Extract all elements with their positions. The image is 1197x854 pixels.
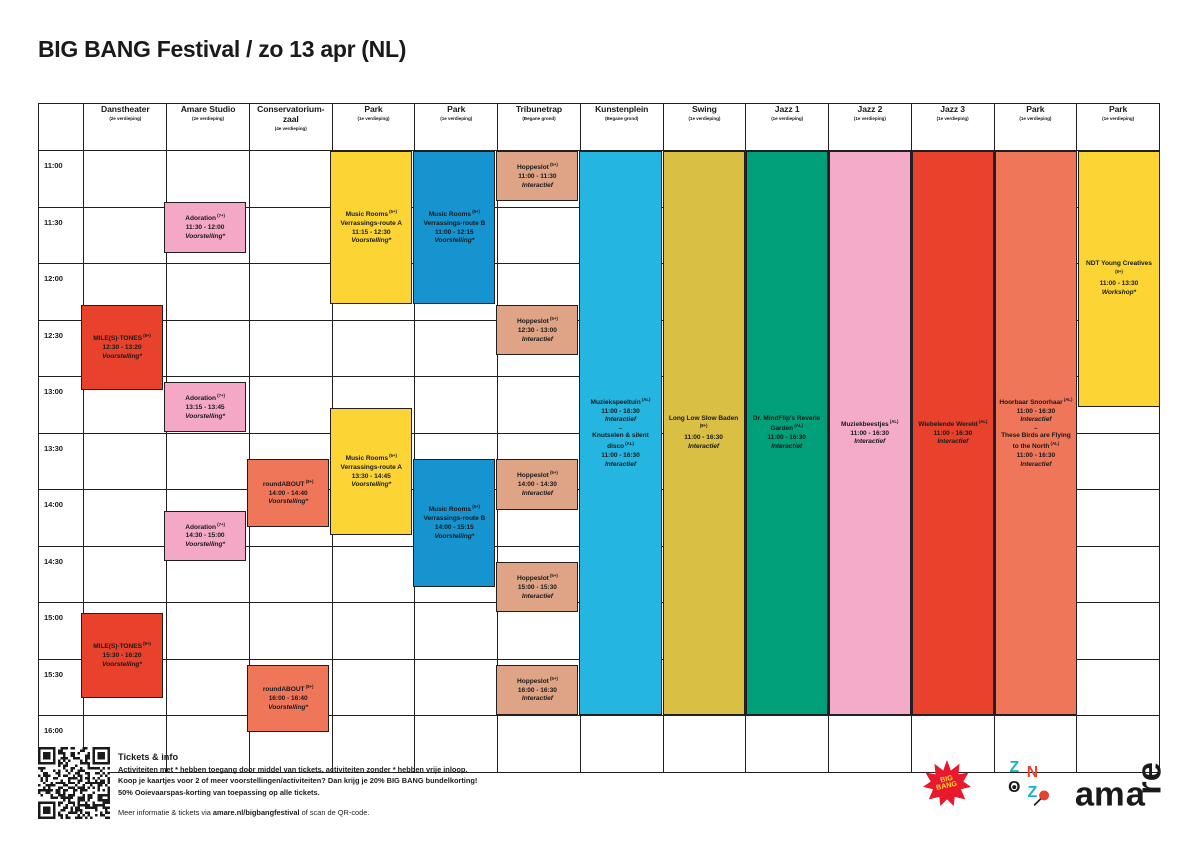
- event-kind: Voorstelling*: [185, 541, 225, 550]
- venue-floor: (1e verdieping): [333, 116, 415, 122]
- event-title: Hoppeslot (5+): [517, 162, 558, 173]
- big-bang-star-icon: BIG BANG: [923, 759, 971, 807]
- venue-floor: (2e verdieping): [167, 116, 249, 122]
- slot-cell: [167, 151, 250, 208]
- event-kind: Interactief: [522, 593, 553, 602]
- event-title: These Birds are Flying to the North (AL): [999, 432, 1073, 452]
- event-subtitle: Verrassings-route B: [423, 515, 485, 524]
- event-time: 12:30 - 13:00: [518, 327, 557, 336]
- event-time: 11:00 - 11:30: [518, 173, 556, 182]
- event-block-music-rooms-a-1[interactable]: Music Rooms (5+)Verrassings-route A11:15…: [330, 151, 412, 304]
- event-age-rating: (5+): [549, 316, 558, 321]
- slot-cell: [332, 320, 415, 377]
- time-cell-1200: 12:00: [39, 264, 84, 321]
- venue-name: Danstheater: [84, 104, 166, 114]
- slot-cell: [1077, 433, 1160, 490]
- event-block-miles-tones-1[interactable]: MILE(S)-TONES (8+)12:30 - 13:20Voorstell…: [81, 305, 163, 390]
- event-time-2: 11:00 - 16:30: [1017, 452, 1056, 461]
- event-kind: Interactief: [771, 443, 802, 452]
- big-bang-logo: BIG BANG: [923, 759, 971, 807]
- zonzo-logo: Z N O Z: [1001, 755, 1059, 811]
- event-title: NDT Young Creatives (8+): [1082, 260, 1156, 280]
- event-age-rating: (AL): [793, 423, 803, 428]
- tickets-heading: Tickets & info: [118, 752, 678, 762]
- event-block-long-low-slow-baden[interactable]: Long Low Slow Baden (8+)11:00 - 16:30Int…: [663, 151, 745, 715]
- event-block-ndt-young-creatives[interactable]: NDT Young Creatives (8+)11:00 - 13:30Wor…: [1078, 151, 1160, 407]
- venue-name: Conservatorium-zaal: [250, 104, 332, 124]
- event-kind-2: Interactief: [1020, 461, 1051, 470]
- event-age-rating: (5+): [388, 453, 397, 458]
- svg-text:re: re: [1130, 762, 1168, 795]
- event-kind: Workshop*: [1102, 289, 1136, 298]
- event-block-music-rooms-b-1[interactable]: Music Rooms (5+)Verrassings-route B11:00…: [413, 151, 495, 304]
- event-kind: Voorstelling*: [102, 661, 142, 670]
- event-subtitle: Verrassings-route B: [423, 220, 485, 229]
- time-label: 13:00: [44, 387, 63, 396]
- schedule-grid: Danstheater(2e verdieping)Amare Studio(2…: [38, 103, 1160, 715]
- event-block-roundabout-1[interactable]: roundABOUT (8+)14:00 - 14:40Voorstelling…: [247, 459, 329, 526]
- event-age-rating: (8+): [142, 641, 151, 646]
- venue-name: Swing: [664, 104, 746, 114]
- event-block-hoppeslot-1[interactable]: Hoppeslot (5+)11:00 - 11:30Interactief: [496, 151, 578, 201]
- event-age-rating: (AL): [1063, 397, 1073, 402]
- event-time: 14:00 - 15:15: [435, 524, 474, 533]
- event-block-roundabout-2[interactable]: roundABOUT (8+)16:00 - 16:40Voorstelling…: [247, 665, 329, 732]
- event-title: Long Low Slow Baden (8+): [667, 415, 741, 435]
- event-block-music-rooms-a-2[interactable]: Music Rooms (5+)Verrassings-route A13:30…: [330, 408, 412, 535]
- venue-name: Amare Studio: [167, 104, 249, 114]
- event-title: Hoppeslot (5+): [517, 573, 558, 584]
- svg-text:am: am: [1075, 776, 1125, 814]
- event-block-miles-tones-2[interactable]: MILE(S)-TONES (8+)15:30 - 16:20Voorstell…: [81, 613, 163, 698]
- event-title: Music Rooms (5+): [346, 453, 397, 464]
- event-age-rating: (AL): [978, 419, 988, 424]
- event-time: 11:15 - 12:30: [352, 229, 391, 238]
- venue-floor: (1e verdieping): [995, 116, 1077, 122]
- slot-cell: [249, 264, 332, 321]
- event-age-rating: (5+): [471, 504, 480, 509]
- venue-floor: (4e verdieping): [250, 126, 332, 132]
- tickets-line-4: Meer informatie & tickets via amare.nl/b…: [118, 807, 678, 818]
- time-label: 15:30: [44, 670, 63, 679]
- svg-text:Z: Z: [1028, 784, 1038, 801]
- event-age-rating: (7+): [216, 522, 225, 527]
- time-label: 16:00: [44, 726, 63, 735]
- event-age-rating: (8+): [700, 423, 708, 428]
- tickets-info: Tickets & info Activiteiten met * hebben…: [118, 752, 678, 818]
- time-label: 11:30: [44, 218, 63, 227]
- event-title: Hoppeslot (5+): [517, 316, 558, 327]
- slot-cell: [415, 320, 498, 377]
- event-age-rating: (5+): [388, 209, 397, 214]
- time-cell-1500: 15:00: [39, 603, 84, 660]
- slot-cell: [415, 659, 498, 716]
- slot-cell: [167, 659, 250, 716]
- time-cell-1530: 15:30: [39, 659, 84, 716]
- footer-spacer: [118, 798, 678, 807]
- venue-floor: (2e verdieping): [84, 116, 166, 122]
- event-age-rating: (AL): [624, 441, 634, 446]
- event-title: Adoration (7+): [185, 213, 225, 224]
- time-label: 12:00: [44, 274, 63, 283]
- amare-logo: am a re: [1073, 749, 1173, 815]
- event-kind: Voorstelling*: [185, 233, 225, 242]
- event-block-muziekbeestjes[interactable]: Muziekbeestjes (AL)11:00 - 16:30Interact…: [829, 151, 911, 715]
- event-age-rating: (8+): [305, 684, 314, 689]
- event-time: 16:00 - 16:40: [269, 695, 308, 704]
- venue-header-12: Park(1e verdieping): [1077, 104, 1160, 151]
- slot-cell: [498, 207, 581, 264]
- event-kind: Interactief: [522, 490, 553, 499]
- venue-header-5: Tribunetrap(Begane grond): [498, 104, 581, 151]
- time-label: 15:00: [44, 613, 63, 622]
- venue-header-0: Danstheater(2e verdieping): [84, 104, 167, 151]
- venue-header-1: Amare Studio(2e verdieping): [167, 104, 250, 151]
- event-title: Hoppeslot (5+): [517, 676, 558, 687]
- slot-cell: [249, 207, 332, 264]
- qr-code-icon: [38, 747, 110, 819]
- event-time: 14:30 - 15:00: [186, 532, 225, 541]
- qr-code[interactable]: [38, 747, 110, 819]
- svg-text:Z: Z: [1009, 759, 1019, 776]
- venue-floor: (1e verdieping): [746, 116, 828, 122]
- event-kind: Interactief: [605, 416, 636, 425]
- time-cell-1230: 12:30: [39, 320, 84, 377]
- venue-name: Jazz 1: [746, 104, 828, 114]
- tickets-line-2-text: Koop je kaartjes voor 2 of meer voorstel…: [118, 776, 370, 785]
- event-kind: Interactief: [522, 182, 553, 191]
- event-age-rating: (7+): [216, 213, 225, 218]
- slot-cell: [249, 151, 332, 208]
- slot-cell: [332, 546, 415, 603]
- event-age-rating: (AL): [1049, 441, 1059, 446]
- time-cell-1300: 13:00: [39, 377, 84, 434]
- venue-name: Park: [415, 104, 497, 114]
- event-title: MILE(S)-TONES (8+): [93, 333, 151, 344]
- time-label: 14:00: [44, 500, 63, 509]
- event-block-hoorbaar-snoorhaar[interactable]: Hoorbaar Snoorhaar (AL)11:00 - 16:30Inte…: [995, 151, 1077, 715]
- event-age-rating: (8+): [305, 479, 314, 484]
- event-block-hoppeslot-3[interactable]: Hoppeslot (5+)14:00 - 14:30Interactief: [496, 459, 578, 509]
- event-time: 11:30 - 12:00: [186, 224, 225, 233]
- slot-cell: [167, 603, 250, 660]
- event-block-hoppeslot-5[interactable]: Hoppeslot (5+)16:00 - 16:30Interactief: [496, 665, 578, 715]
- event-block-music-rooms-b-2[interactable]: Music Rooms (5+)Verrassings-route B14:00…: [413, 459, 495, 586]
- venue-floor: (Begane grond): [581, 116, 663, 122]
- time-cell-1130: 11:30: [39, 207, 84, 264]
- event-separator: –: [619, 425, 623, 432]
- slot-cell: [1077, 546, 1160, 603]
- event-time: 15:00 - 15:30: [518, 584, 557, 593]
- svg-text:N: N: [1027, 764, 1038, 781]
- event-time: 11:00 - 16:30: [601, 408, 640, 417]
- slot-cell: [1077, 490, 1160, 547]
- venue-floor: (1e verdieping): [664, 116, 746, 122]
- venue-header-3: Park(1e verdieping): [332, 104, 415, 151]
- event-age-rating: (5+): [549, 676, 558, 681]
- slot-cell: [332, 603, 415, 660]
- event-block-hoppeslot-4[interactable]: Hoppeslot (5+)15:00 - 15:30Interactief: [496, 562, 578, 612]
- venue-floor: (1e verdieping): [1077, 116, 1159, 122]
- event-title: Music Rooms (5+): [346, 209, 397, 220]
- time-cell-1400: 14:00: [39, 490, 84, 547]
- event-age-rating: (AL): [641, 397, 651, 402]
- event-kind: Interactief: [688, 443, 719, 452]
- time-cell-1430: 14:30: [39, 546, 84, 603]
- venue-header-7: Swing(1e verdieping): [663, 104, 746, 151]
- time-label: 14:30: [44, 557, 63, 566]
- more-info-text: Meer informatie & tickets via: [118, 808, 213, 817]
- event-block-adoration-3[interactable]: Adoration (7+)14:30 - 15:00Voorstelling*: [164, 511, 246, 561]
- event-time: 11:00 - 16:30: [767, 434, 806, 443]
- event-title: Knutselen & silent disco (AL): [583, 432, 657, 452]
- slot-cell: [84, 207, 167, 264]
- event-time: 15:30 - 16:20: [103, 652, 142, 661]
- venue-name: Tribunetrap: [498, 104, 580, 114]
- event-time: 11:00 - 16:30: [684, 434, 723, 443]
- slot-cell: [84, 490, 167, 547]
- venue-floor: (1e verdieping): [415, 116, 497, 122]
- event-title: Muziekspeeltuin (AL): [591, 397, 651, 408]
- event-age-rating: (8+): [142, 333, 151, 338]
- event-time: 11:00 - 16:30: [850, 430, 889, 439]
- event-kind: Voorstelling*: [268, 498, 308, 507]
- event-title: Wiebelende Wereld (AL): [918, 419, 987, 430]
- amare-wordmark-icon: am a re: [1073, 749, 1173, 815]
- event-time: 13:15 - 13:45: [186, 404, 225, 413]
- slot-cell: [84, 546, 167, 603]
- event-title: Hoppeslot (5+): [517, 470, 558, 481]
- event-title: roundABOUT (8+): [263, 684, 314, 695]
- footer: Tickets & info Activiteiten met * hebben…: [0, 735, 1197, 854]
- tickets-line-1: Activiteiten met * hebben toegang door m…: [118, 764, 678, 775]
- festival-schedule-poster: BIG BANG Festival / zo 13 apr (NL) Danst…: [0, 0, 1197, 854]
- event-age-rating: (5+): [549, 162, 558, 167]
- slot-cell: [167, 433, 250, 490]
- schedule-header-row: Danstheater(2e verdieping)Amare Studio(2…: [39, 104, 1160, 151]
- event-kind-2: Interactief: [605, 461, 636, 470]
- event-time: 11:00 - 16:30: [1017, 408, 1056, 417]
- slot-cell: [249, 546, 332, 603]
- event-title: Hoorbaar Snoorhaar (AL): [999, 397, 1072, 408]
- time-cell-1100: 11:00: [39, 151, 84, 208]
- slot-cell: [415, 377, 498, 434]
- slot-cell: [1077, 603, 1160, 660]
- venue-floor: (1e verdieping): [829, 116, 911, 122]
- event-kind: Voorstelling*: [102, 353, 142, 362]
- venue-header-11: Park(1e verdieping): [994, 104, 1077, 151]
- event-kind: Voorstelling*: [434, 533, 474, 542]
- event-kind: Interactief: [937, 438, 968, 447]
- slot-cell: [498, 377, 581, 434]
- venue-name: Jazz 2: [829, 104, 911, 114]
- event-age-rating: (5+): [549, 573, 558, 578]
- festival-website-link[interactable]: amare.nl/bigbangfestival: [213, 808, 300, 817]
- event-kind: Voorstelling*: [351, 481, 391, 490]
- event-age-rating: (5+): [471, 209, 480, 214]
- event-kind: Voorstelling*: [185, 413, 225, 422]
- event-separator: –: [1034, 425, 1038, 432]
- event-block-wiebelende-wereld[interactable]: Wiebelende Wereld (AL)11:00 - 16:30Inter…: [912, 151, 994, 715]
- event-title: Music Rooms (5+): [429, 209, 480, 220]
- venue-floor: (Begane grond): [498, 116, 580, 122]
- event-kind: Voorstelling*: [434, 237, 474, 246]
- slot-cell: [167, 320, 250, 377]
- event-title: Muziekbeestjes (AL): [841, 419, 898, 430]
- slot-cell: [249, 377, 332, 434]
- slot-cell: [1077, 659, 1160, 716]
- event-time: 11:00 - 13:30: [1100, 280, 1139, 289]
- event-time: 14:00 - 14:40: [269, 490, 308, 499]
- event-time: 12:30 - 13:20: [103, 344, 142, 353]
- venue-header-8: Jazz 1(1e verdieping): [746, 104, 829, 151]
- event-kind: Interactief: [854, 438, 885, 447]
- venue-floor: (1e verdieping): [912, 116, 994, 122]
- scan-qr-text: of scan de QR-code.: [300, 808, 370, 817]
- slot-cell: [415, 603, 498, 660]
- event-block-dr-mindflip[interactable]: Dr. MindFlip's Reverie Garden (AL)11:00 …: [746, 151, 828, 715]
- venue-name: Jazz 3: [912, 104, 994, 114]
- time-label: 12:30: [44, 331, 63, 340]
- event-kind: Interactief: [1020, 416, 1051, 425]
- page-title: BIG BANG Festival / zo 13 apr (NL): [38, 36, 406, 63]
- event-age-rating: (8+): [1115, 269, 1123, 274]
- event-age-rating: (AL): [889, 419, 899, 424]
- event-block-muziekspeeltuin[interactable]: Muziekspeeltuin (AL)11:00 - 16:30Interac…: [579, 151, 661, 715]
- event-kind: Voorstelling*: [351, 237, 391, 246]
- event-age-rating: (5+): [549, 470, 558, 475]
- bundle-discount-text: 20% BIG BANG bundelkorting!: [370, 776, 478, 785]
- venue-name: Park: [333, 104, 415, 114]
- logo-row: BIG BANG Z N O Z am a: [923, 741, 1173, 831]
- event-subtitle: Verrassings-route A: [341, 464, 402, 473]
- time-column-header: [39, 104, 84, 151]
- event-subtitle: Verrassings-route A: [341, 220, 402, 229]
- venue-header-9: Jazz 2(1e verdieping): [829, 104, 912, 151]
- venue-header-10: Jazz 3(1e verdieping): [911, 104, 994, 151]
- event-age-rating: (7+): [216, 393, 225, 398]
- time-cell-1330: 13:30: [39, 433, 84, 490]
- event-time-2: 11:00 - 16:30: [601, 452, 640, 461]
- slot-cell: [249, 320, 332, 377]
- venue-name: Park: [995, 104, 1077, 114]
- venue-header-4: Park(1e verdieping): [415, 104, 498, 151]
- event-block-hoppeslot-2[interactable]: Hoppeslot (5+)12:30 - 13:00Interactief: [496, 305, 578, 355]
- time-label: 11:00: [44, 161, 63, 170]
- event-title: MILE(S)-TONES (8+): [93, 641, 151, 652]
- venue-name: Park: [1077, 104, 1159, 114]
- event-block-adoration-1[interactable]: Adoration (7+)11:30 - 12:00Voorstelling*: [164, 202, 246, 252]
- slot-cell: [249, 603, 332, 660]
- slot-cell: [84, 151, 167, 208]
- tickets-line-3: 50% Ooievaarspas-korting van toepassing …: [118, 787, 678, 798]
- venue-header-2: Conservatorium-zaal(4e verdieping): [249, 104, 332, 151]
- event-time: 16:00 - 16:30: [518, 687, 557, 696]
- time-label: 13:30: [44, 444, 63, 453]
- event-title: Dr. MindFlip's Reverie Garden (AL): [750, 415, 824, 435]
- event-title: Music Rooms (5+): [429, 504, 480, 515]
- venue-header-6: Kunstenplein(Begane grond): [580, 104, 663, 151]
- event-block-adoration-2[interactable]: Adoration (7+)13:15 - 13:45Voorstelling*: [164, 382, 246, 432]
- slot-cell: [84, 433, 167, 490]
- event-title: Adoration (7+): [185, 522, 225, 533]
- event-time: 13:30 - 14:45: [352, 473, 391, 482]
- event-time: 14:00 - 14:30: [518, 481, 557, 490]
- venue-name: Kunstenplein: [581, 104, 663, 114]
- event-title: Adoration (7+): [185, 393, 225, 404]
- zonzo-wordmark-icon: Z N O Z: [1001, 755, 1059, 811]
- event-title: roundABOUT (8+): [263, 479, 314, 490]
- event-kind: Voorstelling*: [268, 704, 308, 713]
- event-kind: Interactief: [522, 336, 553, 345]
- event-time: 11:00 - 12:15: [435, 229, 474, 238]
- slot-cell: [332, 659, 415, 716]
- event-time: 11:00 - 16:30: [934, 430, 973, 439]
- slot-cell: [167, 264, 250, 321]
- event-kind: Interactief: [522, 695, 553, 704]
- tickets-line-2: Koop je kaartjes voor 2 of meer voorstel…: [118, 775, 678, 786]
